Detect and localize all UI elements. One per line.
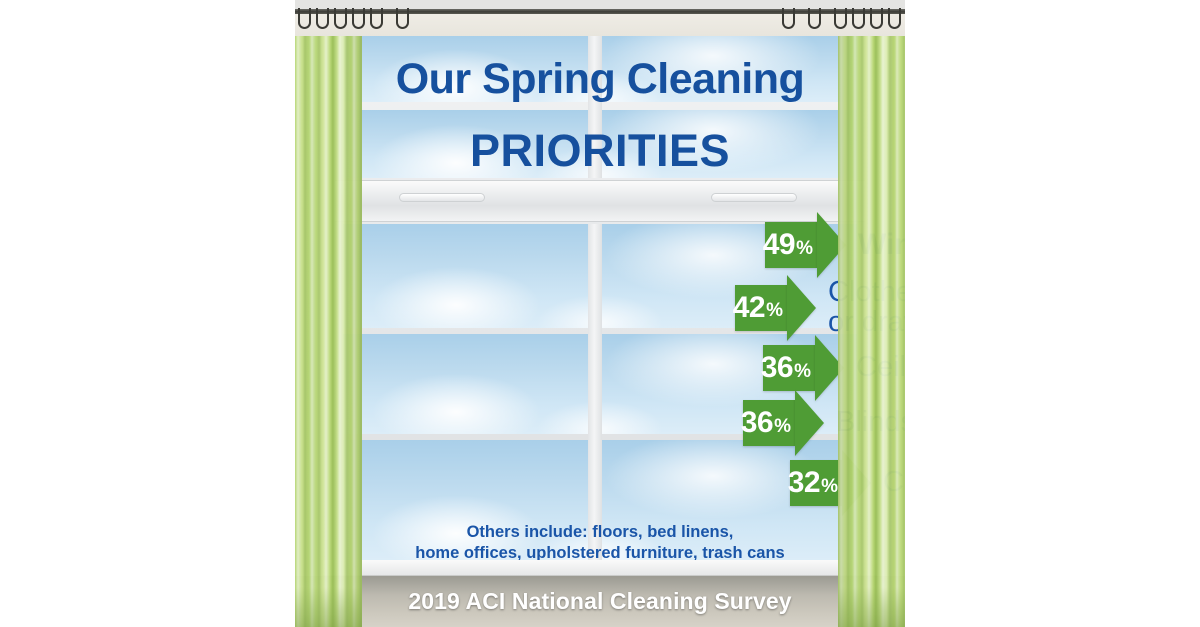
curtain-ring-icon (316, 8, 329, 29)
curtain-ring-icon (396, 8, 409, 29)
window-sash-rail (335, 180, 865, 222)
arrow-icon: 36% (743, 400, 824, 446)
curtain-ring-icon (298, 8, 311, 29)
curtain-ring-icon (352, 8, 365, 29)
curtain-ring-icon (870, 8, 883, 29)
percent-value: 32 (788, 468, 820, 498)
curtain-right-hem (838, 587, 905, 627)
curtain-ring-icon (808, 8, 821, 29)
percent-value: 36 (741, 408, 773, 438)
percent-sign: % (774, 417, 791, 436)
arrow-head (787, 275, 816, 341)
arrow-body: 42% (735, 285, 787, 331)
arrow-icon: 36% (763, 345, 844, 391)
percent-sign: % (821, 477, 838, 496)
poster-stage: Our Spring Cleaning PRIORITIES 49%Window… (0, 0, 1200, 627)
arrow-body: 32% (790, 460, 842, 506)
curtain-right (838, 0, 905, 627)
curtain-grommets (295, 8, 905, 34)
percent-sign: % (766, 301, 783, 320)
curtain-ring-icon (834, 8, 847, 29)
percent-value: 42 (733, 293, 765, 323)
others-footnote: Others include: floors, bed linens, home… (343, 522, 857, 563)
percent-sign: % (796, 239, 813, 258)
window-muntin-vertical-bottom (588, 224, 602, 560)
spring-cleaning-infographic: Our Spring Cleaning PRIORITIES 49%Window… (295, 0, 905, 627)
arrow-body: 49% (765, 222, 817, 268)
poster-title-line-2: PRIORITIES (343, 128, 857, 173)
window-latch-left[interactable] (399, 193, 485, 202)
percent-sign: % (794, 362, 811, 381)
curtain-ring-icon (370, 8, 383, 29)
curtain-ring-icon (888, 8, 901, 29)
source-band: 2019 ACI National Cleaning Survey (295, 576, 905, 627)
arrow-body: 36% (763, 345, 815, 391)
curtain-left-fabric (295, 14, 362, 627)
window-sill (323, 560, 877, 576)
curtain-ring-icon (334, 8, 347, 29)
arrow-icon: 42% (735, 285, 816, 331)
curtain-left-hem (295, 587, 362, 627)
source-label: 2019 ACI National Cleaning Survey (408, 588, 791, 615)
curtain-left (295, 0, 362, 627)
poster-title-line-1: Our Spring Cleaning (343, 58, 857, 101)
arrow-icon: 49% (765, 222, 846, 268)
arrow-body: 36% (743, 400, 795, 446)
curtain-right-fabric (838, 14, 905, 627)
percent-value: 36 (761, 353, 793, 383)
percent-value: 49 (763, 230, 795, 260)
curtain-ring-icon (852, 8, 865, 29)
curtain-ring-icon (782, 8, 795, 29)
arrow-head (795, 390, 824, 456)
window-latch-right[interactable] (711, 193, 797, 202)
